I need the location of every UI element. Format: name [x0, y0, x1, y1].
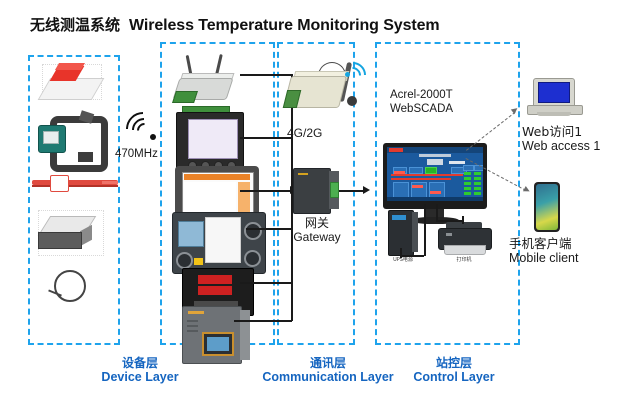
layer-label-device: 设备层 Device Layer — [60, 356, 220, 385]
layer-label-control-en: Control Layer — [371, 370, 537, 385]
layer-label-device-en: Device Layer — [60, 370, 220, 385]
layer-label-device-cn: 设备层 — [60, 356, 220, 370]
arrow-to-mobile-client — [523, 186, 531, 194]
gateway-label-cn: 网关 — [283, 216, 351, 230]
page-title-cn: 无线测温系统 — [30, 14, 120, 35]
web-access-label-cn: Web访问1 — [522, 124, 600, 139]
connector-printer-stub — [462, 216, 464, 224]
mobile-client-label-cn: 手机客户端 — [509, 236, 578, 251]
connector-monitor-drop — [424, 204, 426, 256]
gateway-label: 网关 Gateway — [283, 216, 351, 244]
grey-box-transmitter — [38, 210, 104, 258]
web-access-label: Web访问1 Web access 1 — [522, 124, 600, 154]
ups-power-supply — [388, 210, 418, 254]
diagram-canvas: 无线测温系统 Wireless Temperature Monitoring S… — [0, 0, 629, 409]
scada-title: Acrel-2000T WebSCADA — [390, 88, 453, 116]
industrial-gateway-switch — [293, 168, 339, 212]
wall-mount-cabinet — [182, 306, 250, 362]
web-access-label-en: Web access 1 — [522, 139, 600, 154]
cellular-signal-icon — [340, 62, 366, 88]
layer-label-control-cn: 站控层 — [371, 356, 537, 370]
scada-title-line1: Acrel-2000T — [390, 88, 453, 102]
connector-led — [240, 282, 292, 284]
mobile-client-label-en: Mobile client — [509, 251, 578, 266]
wireless-receiver-access-point — [172, 58, 236, 108]
ups-label: UPS电源 — [378, 256, 428, 263]
connector-gateway-out — [339, 190, 365, 192]
relay-protection-device — [172, 212, 264, 272]
arrow-gateway-to-control — [363, 186, 370, 194]
connector-printer-run — [436, 220, 464, 222]
connector-meter — [240, 137, 292, 139]
network-printer — [438, 222, 490, 258]
desktop-computer — [527, 78, 581, 118]
cellular-label: 4G/2G — [287, 126, 322, 140]
scada-title-line2: WebSCADA — [390, 102, 453, 116]
page-title-en: Wireless Temperature Monitoring System — [129, 17, 440, 35]
printer-label: 打印机 — [438, 256, 490, 263]
layer-label-control: 站控层 Control Layer — [371, 356, 537, 385]
page-title: 无线测温系统 Wireless Temperature Monitoring S… — [30, 14, 440, 35]
connector-gateway-in — [272, 190, 292, 192]
connector-ups-run — [400, 255, 424, 257]
mobile-phone — [534, 182, 560, 232]
clamp-on-ct-temperature-sensor — [36, 112, 106, 164]
wifi-470mhz-icon — [126, 112, 162, 146]
gateway-label-en: Gateway — [283, 230, 351, 244]
mobile-client-label: 手机客户端 Mobile client — [509, 236, 578, 266]
ring-ct-coil-sensor — [48, 268, 88, 304]
connector-cab — [234, 320, 292, 322]
panel-meter-lcd — [172, 104, 246, 174]
cable-tie-strap-sensor — [32, 172, 118, 194]
frequency-label: 470MHz — [115, 148, 158, 160]
red-cube-temperature-sensor — [40, 62, 102, 102]
